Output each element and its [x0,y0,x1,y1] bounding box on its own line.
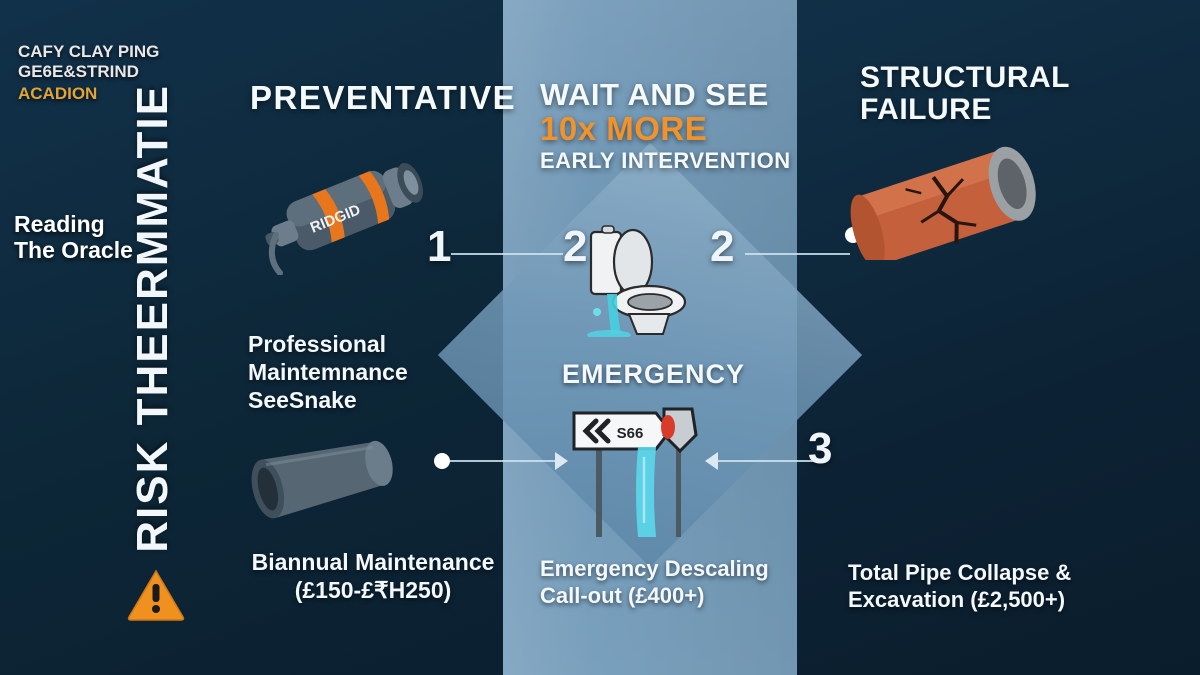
caption-total-pipe-collapse: Total Pipe Collapse & Excavation (£2,500… [848,560,1128,614]
label-emergency: EMERGENCY [562,358,745,391]
heading-right-line2: FAILURE [860,93,992,126]
caption-right-line1: Total Pipe Collapse & [848,560,1071,585]
connector-line-3 [450,460,555,462]
caption-professional-maintenance: Professional Maintemnance SeeSnake [248,330,498,414]
cracked-orange-pipe-icon [845,140,1095,260]
photo-title: Reading The Oracle [14,212,133,264]
seesnake-camera-icon: RIDGID [258,140,448,275]
connector-line-4 [718,460,813,462]
connector-line-1 [451,253,563,255]
heading-wait-and-see: WAIT AND SEE 10x MORE EARLY INTERVENTION [540,78,791,173]
connector-dot-left [434,453,450,469]
heading-structural-failure: STRUCTURAL FAILURE [860,62,1070,127]
caption-right-line2: Excavation (£2,500+) [848,587,1065,612]
leaking-toilet-icon [577,222,697,337]
heading-preventative: PREVENTATIVE [250,80,516,116]
connector-line-2 [745,253,850,255]
caption-mid-line1: Emergency Descaling [540,556,769,581]
step-number-2b: 2 [710,222,734,272]
photo-overlay-line3: ACADION [18,84,97,103]
road-sign-flood-icon: S66 [560,405,730,540]
heading-mid-accent: 10x MORE [540,111,791,147]
warning-triangle-icon [126,568,186,622]
heading-mid-line3: EARLY INTERVENTION [540,149,791,173]
photo-overlay-line2: GE6E&STRIND [18,62,139,81]
heading-right-line1: STRUCTURAL [860,61,1070,94]
caption-biannual-maintenance: Biannual Maintenance (£150-£₹H250) [238,548,508,604]
caption-biannual-line1: Biannual Maintenance [252,549,495,575]
vertical-title: RISK THEERMMATIE [118,88,188,548]
step-number-3: 3 [808,424,832,474]
sign-text: S66 [617,425,644,442]
grey-pipe-icon [240,430,400,520]
caption-mid-line2: Call-out (£400+) [540,583,704,608]
page-title: RISK THEERMMATIE [128,84,178,553]
heading-mid-line1: WAIT AND SEE [540,77,769,112]
photo-title-line2: The Oracle [14,237,133,263]
photo-title-line1: Reading [14,211,105,237]
photo-overlay-line1: CAFY CLAY PING [18,42,159,61]
caption-emergency-descaling: Emergency Descaling Call-out (£400+) [540,556,790,610]
infographic-canvas: RISK THEERMMATIE PREVENTATIVE WAIT AND S… [0,0,1200,675]
caption-biannual-line2: (£150-£₹H250) [295,577,452,603]
